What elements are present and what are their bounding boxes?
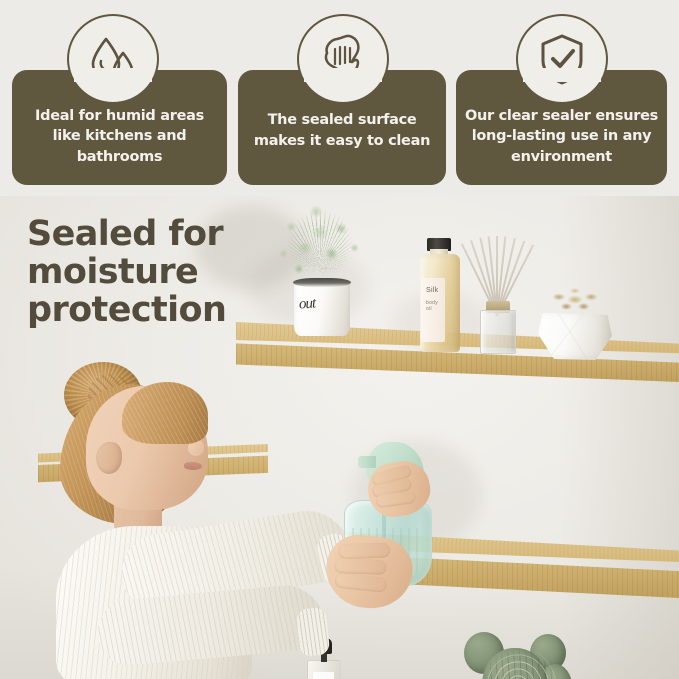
badge-merge-shape <box>304 68 382 82</box>
spray-bottle-nozzle <box>358 456 376 468</box>
feature-card-line-1: The sealed surface <box>254 110 430 131</box>
succulent-pot-facets <box>538 310 612 360</box>
succulent-plant <box>538 282 612 360</box>
bottle-label: Silk body oil <box>421 278 445 342</box>
shield-check-icon <box>516 14 608 104</box>
feature-card-line-2: makes it easy to clean <box>254 131 430 152</box>
badge-merge-shape <box>523 68 601 82</box>
water-droplets-icon <box>67 14 159 104</box>
ear <box>96 442 122 474</box>
bottle-label-line1: Silk <box>426 287 438 294</box>
feature-card-line-3: bathrooms <box>35 147 204 168</box>
badge-merge-shape <box>74 68 152 82</box>
product-infographic: out Silk body oil <box>0 0 679 679</box>
feature-card-text: The sealed surface makes it easy to clea… <box>254 104 430 151</box>
feature-card-line-2: long-lasting use in any <box>465 126 658 147</box>
headline-line-3: protection <box>27 292 257 330</box>
feature-card-list: Ideal for humid areas like kitchens and … <box>0 0 679 196</box>
page-title: Sealed for moisture protection <box>27 216 257 329</box>
cactus-plant <box>458 626 578 679</box>
girl-child <box>2 358 362 679</box>
cactus-spines <box>464 632 572 679</box>
fern-plant: out <box>272 198 368 348</box>
succulent-rosette <box>544 282 606 316</box>
bottle-label-line2: body oil <box>426 300 445 312</box>
amber-bottle: Silk body oil <box>418 238 462 352</box>
diffuser-vessel <box>480 310 516 354</box>
finger <box>338 542 390 559</box>
feature-card-line-1: Our clear sealer ensures <box>465 106 658 127</box>
feature-card-line-2: like kitchens and <box>35 126 204 147</box>
reed-diffuser <box>462 232 536 354</box>
hand-wiping-cloth-icon <box>297 14 389 104</box>
headline-line-2: moisture <box>27 254 257 292</box>
sleeve-cuff-lower <box>296 607 331 658</box>
headline-line-1: Sealed for <box>27 216 257 254</box>
lips <box>184 462 202 470</box>
finger <box>334 573 387 593</box>
feature-card-line-1: Ideal for humid areas <box>35 106 204 127</box>
feature-card-line-3: environment <box>465 147 658 168</box>
fern-pot-label: out <box>298 295 315 313</box>
fern-pot-rim <box>293 278 351 287</box>
